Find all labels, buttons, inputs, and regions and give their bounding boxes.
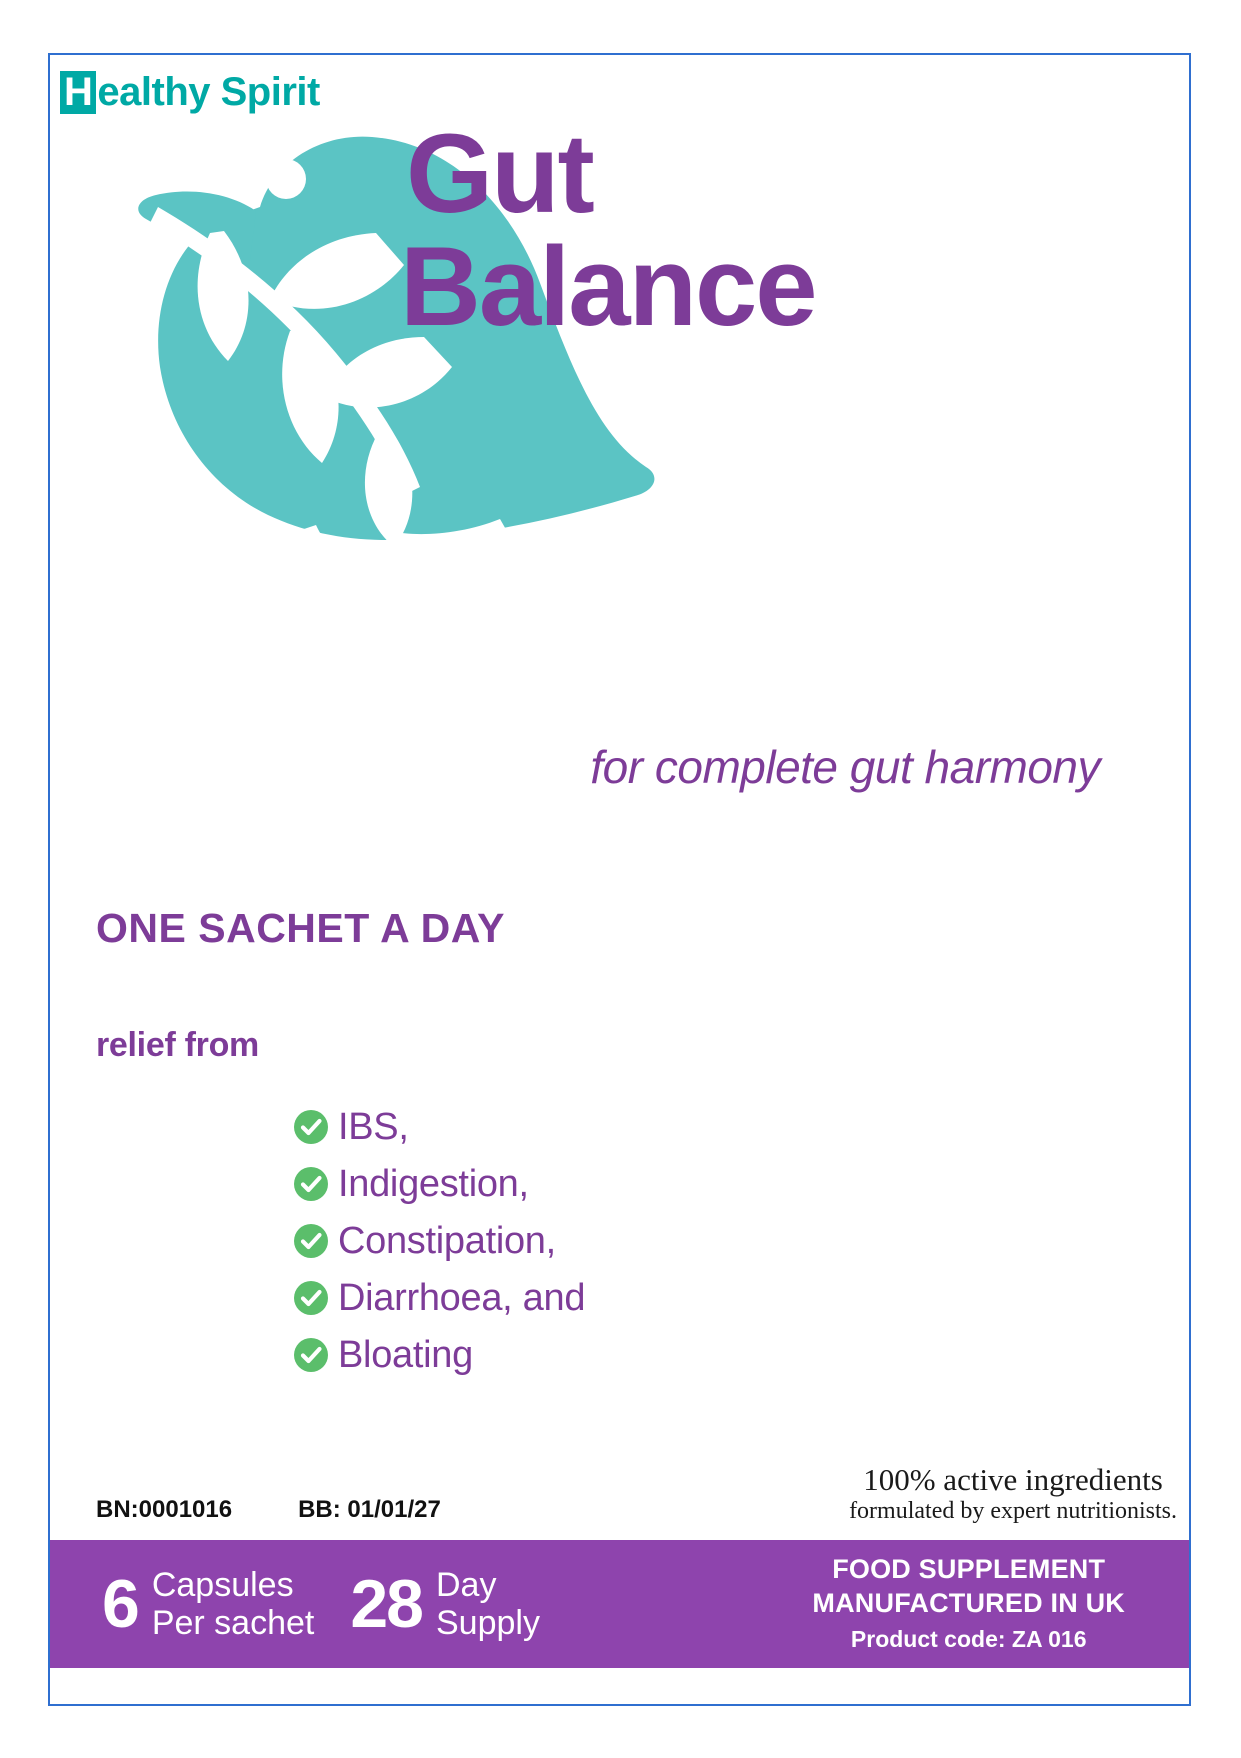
- relief-item-label: IBS,: [338, 1108, 409, 1146]
- check-circle-icon: [294, 1338, 328, 1372]
- brand-name-rest: ealthy Spirit: [97, 70, 319, 114]
- capsules-label-line2: Per sachet: [152, 1604, 315, 1642]
- ingredients-claim: 100% active ingredients formulated by ex…: [849, 1463, 1177, 1525]
- list-item: Constipation,: [294, 1212, 585, 1269]
- list-item: Indigestion,: [294, 1155, 585, 1212]
- relief-item-label: Indigestion,: [338, 1165, 529, 1203]
- supplement-info: FOOD SUPPLEMENT MANUFACTURED IN UK Produ…: [812, 1553, 1125, 1655]
- list-item: Diarrhoea, and: [294, 1269, 585, 1326]
- product-title-line1: Gut: [400, 120, 1100, 229]
- product-title-line2: Balance: [400, 233, 1100, 342]
- days-label-line1: Day: [436, 1566, 496, 1604]
- product-tagline: for complete gut harmony: [0, 740, 1100, 794]
- batch-info: BN:0001016 BB: 01/01/27: [96, 1496, 441, 1524]
- relief-item-label: Constipation,: [338, 1222, 556, 1260]
- ingredients-claim-line2: formulated by expert nutritionists.: [849, 1498, 1177, 1526]
- relief-list: IBS, Indigestion, Constipation,: [294, 1098, 585, 1383]
- batch-number: BN:0001016: [96, 1496, 232, 1524]
- capsules-label-line1: Capsules: [152, 1566, 294, 1604]
- days-label-line2: Supply: [436, 1604, 540, 1642]
- capsules-per-sachet: 6 Capsules Per sachet: [102, 1566, 314, 1642]
- best-before-date: BB: 01/01/27: [298, 1496, 441, 1524]
- product-title: Gut Balance: [400, 120, 1100, 341]
- ingredients-claim-line1: 100% active ingredients: [849, 1463, 1177, 1498]
- product-code: Product code: ZA 016: [812, 1625, 1125, 1655]
- relief-item-label: Bloating: [338, 1336, 473, 1374]
- list-item: Bloating: [294, 1326, 585, 1383]
- days-label: Day Supply: [436, 1566, 540, 1642]
- capsules-label: Capsules Per sachet: [152, 1566, 315, 1642]
- days-count: 28: [350, 1570, 422, 1638]
- footer-bar: 6 Capsules Per sachet 28 Day Supply FOOD…: [50, 1540, 1189, 1668]
- brand-initial-badge: H: [60, 71, 96, 114]
- check-circle-icon: [294, 1224, 328, 1258]
- product-label-page: Healthy Spirit: [0, 0, 1241, 1758]
- food-supplement-line1: FOOD SUPPLEMENT: [812, 1553, 1125, 1586]
- food-supplement-line2: MANUFACTURED IN UK: [812, 1587, 1125, 1620]
- relief-item-label: Diarrhoea, and: [338, 1279, 585, 1317]
- day-supply: 28 Day Supply: [350, 1566, 540, 1642]
- check-circle-icon: [294, 1110, 328, 1144]
- check-circle-icon: [294, 1167, 328, 1201]
- brand-name: Healthy Spirit: [60, 70, 320, 115]
- check-circle-icon: [294, 1281, 328, 1315]
- capsules-count: 6: [102, 1570, 138, 1638]
- dosage-heading: ONE SACHET A DAY: [96, 905, 505, 952]
- relief-heading: relief from: [96, 1026, 259, 1065]
- list-item: IBS,: [294, 1098, 585, 1155]
